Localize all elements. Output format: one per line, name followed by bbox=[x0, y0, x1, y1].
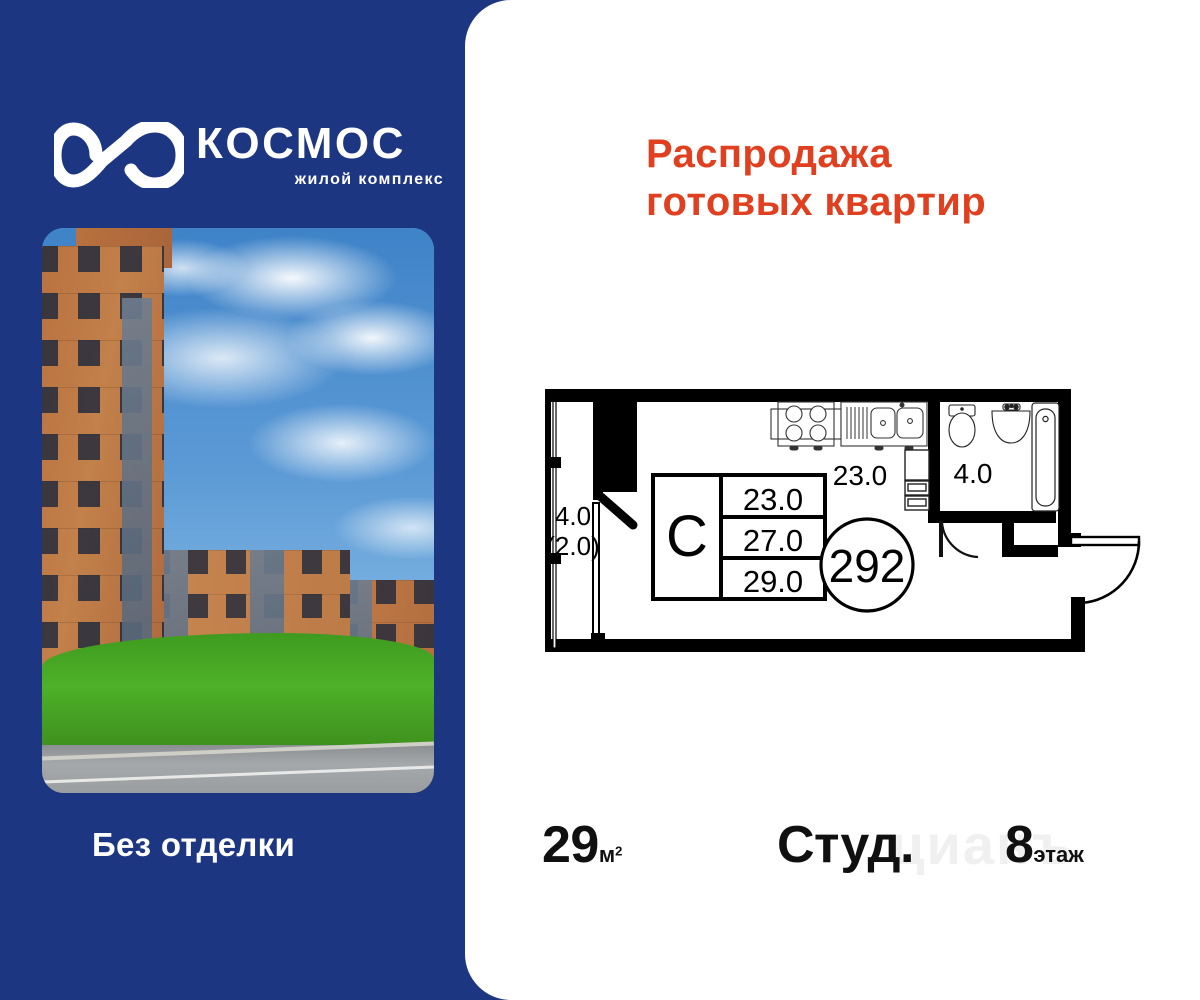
wall-balcony-divider-bottom bbox=[591, 633, 605, 643]
floor-plan: 4.0 bbox=[505, 375, 1175, 665]
apartment-type-info: Студ. bbox=[777, 815, 914, 875]
balcony-wall-top bbox=[545, 389, 637, 402]
brand-name: КОСМОС bbox=[196, 118, 446, 170]
washbasin-icon bbox=[992, 404, 1030, 443]
brand-text-group: КОСМОС жилой комплекс bbox=[196, 118, 446, 190]
brand-tagline: жилой комплекс bbox=[196, 170, 446, 190]
lawn bbox=[42, 633, 434, 751]
info-bar: 29м2 Студ. 8этаж bbox=[505, 805, 1195, 895]
legend-row-1: 27.0 bbox=[743, 523, 803, 558]
area-unit-exponent: 2 bbox=[615, 844, 622, 859]
finish-label: Без отделки bbox=[92, 826, 295, 864]
bathroom: 4.0 bbox=[928, 402, 1071, 557]
wall-entry-stub bbox=[593, 389, 637, 492]
wardrobe-icon bbox=[905, 450, 929, 510]
building-photo bbox=[42, 228, 434, 793]
left-blue-panel: КОСМОС жилой комплекс Без отделки bbox=[0, 0, 480, 1000]
balcony-area-coeff-label: (2.0) bbox=[546, 531, 599, 561]
headline-line-2: готовых квартир bbox=[646, 178, 1116, 226]
apartment-number-label: 292 bbox=[829, 540, 906, 592]
toilet-icon bbox=[949, 405, 975, 447]
area-value: 29 bbox=[542, 816, 599, 874]
wall-right-lower bbox=[1058, 453, 1071, 548]
balcony-wall-left bbox=[545, 389, 551, 652]
balcony-area-label: 4.0 bbox=[555, 501, 591, 531]
floor-info: 8этаж bbox=[1005, 815, 1084, 875]
balcony-door-icon bbox=[601, 497, 633, 525]
brand-logo: КОСМОС жилой комплекс bbox=[54, 118, 444, 210]
page-title: Распродажа готовых квартир bbox=[646, 130, 1116, 226]
legend-row-0: 23.0 bbox=[743, 482, 803, 517]
bathroom-door-icon bbox=[939, 521, 978, 557]
area-info: 29м2 bbox=[542, 815, 622, 875]
area-legend-table: С 23.0 27.0 29.0 bbox=[653, 475, 825, 599]
balcony-door-leaf bbox=[593, 503, 599, 643]
headline-line-1: Распродажа bbox=[646, 130, 1116, 178]
bathtub-icon bbox=[1032, 403, 1059, 511]
balcony-mullion-top bbox=[549, 457, 561, 468]
apartment-number-badge: 292 bbox=[821, 519, 913, 611]
area-unit: м bbox=[599, 842, 615, 867]
legend-type-label: С bbox=[666, 504, 708, 569]
apartment-type-value: Студ. bbox=[777, 816, 914, 874]
entrance-door-icon bbox=[1058, 533, 1139, 652]
bathroom-area-label: 4.0 bbox=[954, 458, 993, 489]
wall-top bbox=[593, 389, 1071, 402]
floor-value: 8 bbox=[1005, 816, 1033, 874]
wall-bottom bbox=[545, 639, 1071, 652]
legend-row-2: 29.0 bbox=[743, 564, 803, 599]
infinity-icon bbox=[54, 122, 184, 188]
wall-right-upper bbox=[1058, 389, 1071, 461]
room-area-label: 23.0 bbox=[833, 460, 888, 491]
wall-bath-bottom-left bbox=[928, 511, 1056, 523]
sink-icon bbox=[841, 402, 927, 450]
floor-unit: этаж bbox=[1033, 842, 1083, 867]
stove-icon bbox=[771, 402, 841, 450]
wall-bath-left bbox=[928, 402, 940, 520]
